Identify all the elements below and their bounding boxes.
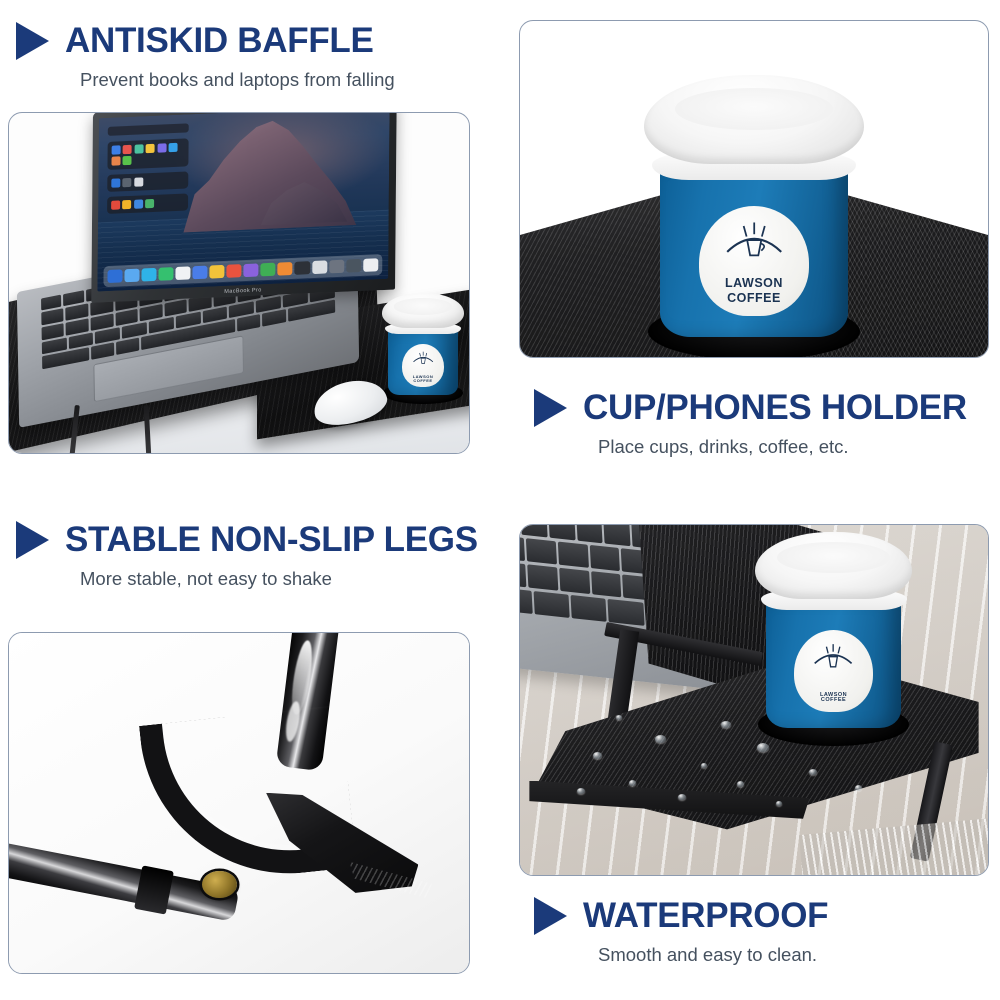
dock-icon[interactable] [260,263,275,277]
desk-legs [64,405,266,453]
widget-card[interactable] [107,172,188,193]
dock-icon[interactable] [158,267,173,281]
dock-icon[interactable] [107,270,122,284]
triangle-right-icon [16,521,49,559]
feature-heading-antiskid-baffle: ANTISKID BAFFLE Prevent books and laptop… [16,22,395,91]
laptop-desk-photo: MacBook Pro LAWSON [9,113,469,453]
cup-brand-line-2: COFFEE [413,379,432,383]
coffee-cup-glyph-icon [808,637,858,680]
coffee-cup: LAWSON COFFEE [763,532,903,728]
widget-card[interactable] [107,138,189,170]
photo-panel-non-slip-leg [8,632,470,974]
heading-row: WATERPROOF [534,897,828,935]
feature-subtitle: Prevent books and laptops from falling [80,69,395,91]
dock-icon[interactable] [141,268,156,282]
coffee-cup-glyph-icon [719,215,789,272]
triangle-right-icon [16,22,49,60]
product-feature-infographic: ANTISKID BAFFLE Prevent books and laptop… [0,0,1000,1000]
dock-icon[interactable] [295,261,310,275]
desktop-widget-column [106,123,188,255]
dock-icon[interactable] [192,266,207,280]
heading-row: CUP/PHONES HOLDER [534,389,967,427]
feature-heading-stable-non-slip-legs: STABLE NON-SLIP LEGS More stable, not ea… [16,521,478,590]
dock-icon[interactable] [243,264,258,278]
coffee-cup: LAWSON COFFEE [656,75,853,337]
cup-brand-line-2: COFFEE [821,698,846,704]
dock-icon[interactable] [312,261,327,275]
cup-brand-line-2: COFFEE [727,292,781,305]
feature-title: CUP/PHONES HOLDER [583,390,967,427]
triangle-right-icon [534,897,567,935]
feature-title: STABLE NON-SLIP LEGS [65,522,478,559]
feature-subtitle: More stable, not easy to shake [80,568,478,590]
photo-panel-waterproof: LAWSON COFFEE [519,524,989,876]
feature-subtitle: Smooth and easy to clean. [598,944,828,966]
non-slip-leg-photo [9,633,469,973]
feature-title: ANTISKID BAFFLE [65,23,374,60]
waterproof-tray-photo: LAWSON COFFEE [520,525,988,875]
cup-logo: LAWSON COFFEE [699,206,809,316]
coffee-cup-glyph-icon [410,348,436,370]
laptop-lid-wrapper: MacBook Pro [91,113,396,303]
laptop-lid: MacBook Pro [91,113,396,303]
dock-icon[interactable] [278,262,293,276]
cup-brand-line-1: LAWSON [725,277,783,290]
cup-lid-top [675,88,832,130]
cup-logo: LAWSON COFFEE [794,630,873,712]
feature-heading-waterproof: WATERPROOF Smooth and easy to clean. [534,897,828,966]
feature-subtitle: Place cups, drinks, coffee, etc. [598,436,967,458]
heading-row: STABLE NON-SLIP LEGS [16,521,478,559]
widget-card[interactable] [107,194,188,215]
spotlight-search-bar[interactable] [107,123,188,136]
cup-logo: LAWSON COFFEE [402,344,443,387]
photo-panel-cup-holder: LAWSON COFFEE [519,20,989,358]
cup-lid-top [394,298,453,314]
photo-panel-antiskid-baffle: MacBook Pro LAWSON [8,112,470,454]
brass-adjust-screw [202,871,237,898]
feature-title: WATERPROOF [583,898,828,935]
dock-icon[interactable] [175,267,190,281]
coffee-cup: LAWSON COFFEE [386,293,460,395]
dock-icon[interactable] [124,269,139,283]
cup-holder-photo: LAWSON COFFEE [520,21,988,357]
laptop-screen [97,113,389,292]
dock-icon[interactable] [363,259,378,273]
dock-icon[interactable] [329,260,344,274]
heading-row: ANTISKID BAFFLE [16,22,395,60]
feature-heading-cup-phones-holder: CUP/PHONES HOLDER Place cups, drinks, co… [534,389,967,458]
dock-icon[interactable] [209,265,224,279]
triangle-right-icon [534,389,567,427]
dock-icon[interactable] [346,259,361,273]
cup-lid-top [777,542,889,573]
dock-icon[interactable] [226,264,241,278]
